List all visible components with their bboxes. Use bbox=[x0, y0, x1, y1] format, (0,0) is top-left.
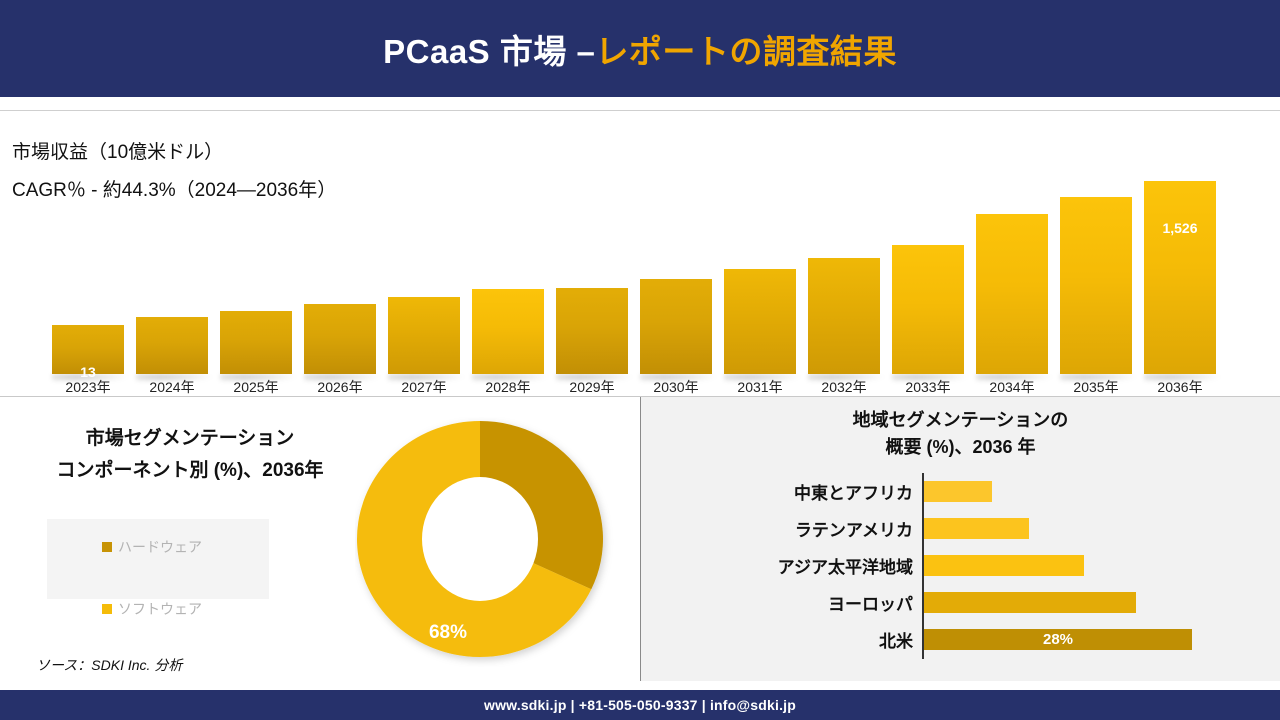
region-bar[interactable] bbox=[924, 518, 1029, 539]
donut-chart: 68% bbox=[355, 417, 620, 667]
region-category-label: 中東とアフリカ bbox=[641, 473, 913, 509]
page-title-primary: PCaaS 市場 – bbox=[383, 33, 595, 70]
revenue-bar-column[interactable]: 2031年 bbox=[718, 111, 802, 397]
revenue-bar-column[interactable]: 2030年 bbox=[634, 111, 718, 397]
region-bar[interactable] bbox=[924, 592, 1136, 613]
revenue-bar[interactable] bbox=[808, 258, 880, 374]
region-row[interactable]: 中東とアフリカ bbox=[641, 473, 1280, 509]
revenue-bar[interactable] bbox=[388, 297, 460, 374]
revenue-bar[interactable] bbox=[724, 269, 796, 374]
revenue-bar-category-label: 2032年 bbox=[802, 377, 886, 397]
revenue-bar-column[interactable]: 2034年 bbox=[970, 111, 1054, 397]
revenue-bar-category-label: 2029年 bbox=[550, 377, 634, 397]
revenue-bar[interactable] bbox=[640, 279, 712, 374]
region-chart-title: 地域セグメンテーションの 概要 (%)、2036 年 bbox=[641, 407, 1280, 461]
revenue-bar-category-label: 2026年 bbox=[298, 377, 382, 397]
revenue-bar-column[interactable]: 2027年 bbox=[382, 111, 466, 397]
region-row[interactable]: アジア太平洋地域 bbox=[641, 547, 1280, 583]
region-row[interactable]: ヨーロッパ bbox=[641, 584, 1280, 620]
donut-value-label: 68% bbox=[403, 622, 493, 644]
donut-legend: ハードウェア ソフトウェア bbox=[47, 519, 269, 599]
legend-swatch-hardware bbox=[102, 542, 112, 552]
region-bar[interactable]: 28% bbox=[924, 629, 1192, 650]
revenue-bar-category-label: 2024年 bbox=[130, 377, 214, 397]
revenue-bar-category-label: 2033年 bbox=[886, 377, 970, 397]
revenue-bar-category-label: 2028年 bbox=[466, 377, 550, 397]
legend-item-hardware[interactable]: ハードウェア bbox=[102, 537, 202, 557]
revenue-bar-category-label: 2035年 bbox=[1054, 377, 1138, 397]
region-title-line1: 地域セグメンテーションの bbox=[641, 407, 1280, 434]
revenue-bar-category-label: 2025年 bbox=[214, 377, 298, 397]
revenue-bar-column[interactable]: 1,5262036年 bbox=[1138, 111, 1222, 397]
page-title-accent: レポートの調査結果 bbox=[595, 33, 897, 70]
revenue-bar[interactable] bbox=[304, 304, 376, 374]
region-bar-value-label: 28% bbox=[924, 629, 1192, 650]
revenue-bar[interactable] bbox=[556, 288, 628, 374]
revenue-bars-area: 132023年2024年2025年2026年2027年2028年2029年203… bbox=[0, 111, 1280, 397]
revenue-bar-column[interactable]: 2024年 bbox=[130, 111, 214, 397]
revenue-bar[interactable] bbox=[1144, 181, 1216, 374]
region-row[interactable]: 北米28% bbox=[641, 621, 1280, 657]
revenue-bar-column[interactable]: 2032年 bbox=[802, 111, 886, 397]
revenue-bar-column[interactable]: 2028年 bbox=[466, 111, 550, 397]
page-title: PCaaS 市場 –レポートの調査結果 bbox=[383, 25, 897, 73]
revenue-bar-column[interactable]: 2035年 bbox=[1054, 111, 1138, 397]
revenue-bar-column[interactable]: 2026年 bbox=[298, 111, 382, 397]
revenue-bar[interactable] bbox=[976, 214, 1048, 374]
region-category-label: 北米 bbox=[641, 621, 913, 657]
donut-chart-title: 市場セグメンテーション コンポーネント別 (%)、2036年 bbox=[0, 423, 380, 487]
revenue-bar-category-label: 2036年 bbox=[1138, 377, 1222, 397]
region-row[interactable]: ラテンアメリカ bbox=[641, 510, 1280, 546]
revenue-bar[interactable] bbox=[220, 311, 292, 374]
revenue-bar-chart-panel: 市場収益（10億米ドル） CAGR％ - 約44.3%（2024―2036年） … bbox=[0, 111, 1280, 397]
revenue-bar-category-label: 2031年 bbox=[718, 377, 802, 397]
revenue-bar[interactable] bbox=[892, 245, 964, 374]
footer-contact-text[interactable]: www.sdki.jp | +81-505-050-9337 | info@sd… bbox=[484, 697, 796, 713]
revenue-bar-value-label: 1,526 bbox=[1138, 220, 1222, 236]
region-bar[interactable] bbox=[924, 481, 992, 502]
region-category-label: ラテンアメリカ bbox=[641, 510, 913, 546]
component-segmentation-panel: 市場セグメンテーション コンポーネント別 (%)、2036年 ハードウェア ソフ… bbox=[0, 397, 640, 681]
revenue-bar[interactable] bbox=[136, 317, 208, 374]
revenue-bar[interactable] bbox=[472, 289, 544, 374]
revenue-bar-column[interactable]: 132023年 bbox=[46, 111, 130, 397]
page-footer: www.sdki.jp | +81-505-050-9337 | info@sd… bbox=[0, 690, 1280, 720]
revenue-bar[interactable] bbox=[1060, 197, 1132, 374]
region-bar[interactable] bbox=[924, 555, 1084, 576]
region-title-line2: 概要 (%)、2036 年 bbox=[641, 434, 1280, 461]
revenue-bar-category-label: 2034年 bbox=[970, 377, 1054, 397]
donut-hole bbox=[422, 477, 538, 601]
page-header: PCaaS 市場 –レポートの調査結果 bbox=[0, 0, 1280, 97]
revenue-bar-category-label: 2030年 bbox=[634, 377, 718, 397]
source-note: ソース：SDKI Inc. 分析 bbox=[36, 655, 182, 675]
donut-title-line1: 市場セグメンテーション bbox=[0, 423, 380, 455]
legend-swatch-software bbox=[102, 604, 112, 614]
regional-segmentation-panel: 地域セグメンテーションの 概要 (%)、2036 年 中東とアフリカラテンアメリ… bbox=[641, 397, 1280, 681]
region-category-label: ヨーロッパ bbox=[641, 584, 913, 620]
legend-label-hardware: ハードウェア bbox=[118, 537, 202, 557]
revenue-bar-category-label: 2023年 bbox=[46, 377, 130, 397]
region-category-label: アジア太平洋地域 bbox=[641, 547, 913, 583]
donut-title-line2: コンポーネント別 (%)、2036年 bbox=[0, 455, 380, 487]
revenue-bar-column[interactable]: 2033年 bbox=[886, 111, 970, 397]
region-plot-area: 中東とアフリカラテンアメリカアジア太平洋地域ヨーロッパ北米28% bbox=[641, 473, 1280, 663]
revenue-bar-category-label: 2027年 bbox=[382, 377, 466, 397]
legend-item-software[interactable]: ソフトウェア bbox=[102, 599, 202, 619]
legend-label-software: ソフトウェア bbox=[118, 599, 202, 619]
revenue-bar-column[interactable]: 2025年 bbox=[214, 111, 298, 397]
revenue-bar-column[interactable]: 2029年 bbox=[550, 111, 634, 397]
